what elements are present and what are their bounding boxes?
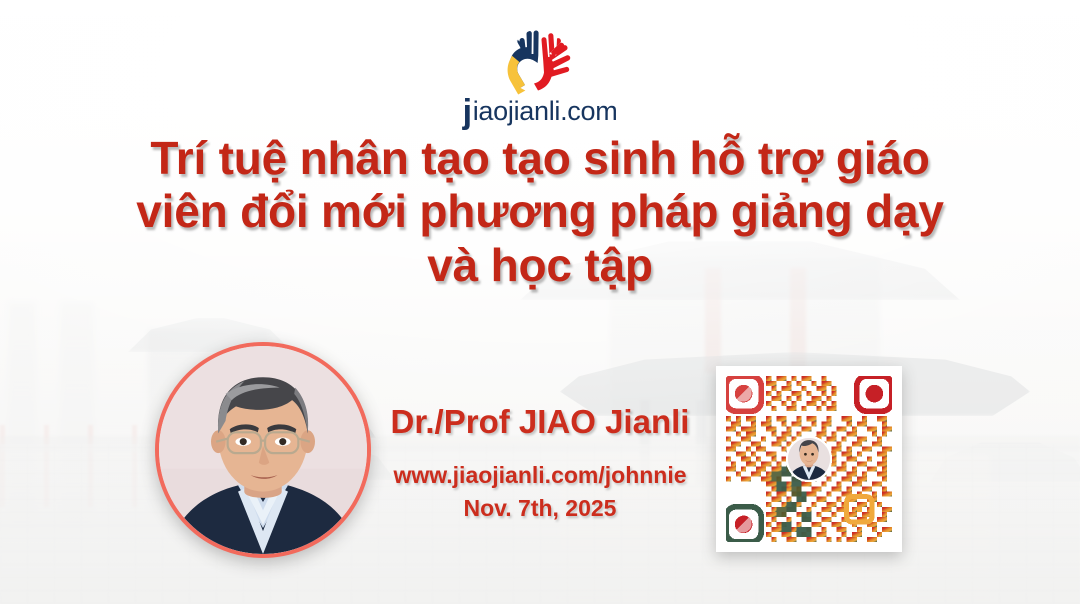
two-hands-icon — [485, 28, 595, 98]
qr-code-card[interactable] — [716, 366, 902, 552]
page-title: Trí tuệ nhân tạo tạo sinh hỗ trợ giáo vi… — [0, 132, 1080, 292]
speaker-portrait — [155, 342, 371, 558]
speaker-url[interactable]: www.jiaojianli.com/johnnie — [372, 462, 708, 488]
title-line-1: Trí tuệ nhân tạo tạo sinh hỗ trợ giáo — [0, 132, 1080, 185]
logo-wordmark-initial: j — [463, 95, 472, 129]
speaker-name: Dr./Prof JIAO Jianli — [372, 404, 708, 440]
title-slide: jiaojianli.com Trí tuệ nhân tạo tạo sinh… — [0, 0, 1080, 604]
presentation-date: Nov. 7th, 2025 — [372, 495, 708, 521]
avatar-illustration — [788, 438, 830, 480]
speaker-info: Dr./Prof JIAO Jianli www.jiaojianli.com/… — [372, 404, 708, 521]
logo: jiaojianli.com — [0, 28, 1080, 127]
contact-qr-code[interactable] — [726, 376, 892, 542]
logo-wordmark-text: iaojianli.com — [473, 96, 618, 127]
portrait-illustration — [159, 346, 367, 554]
qr-center-avatar — [786, 436, 832, 482]
logo-wordmark: jiaojianli.com — [463, 92, 618, 127]
title-line-2: viên đổi mới phương pháp giảng dạy — [0, 185, 1080, 238]
title-line-3: và học tập — [0, 239, 1080, 292]
